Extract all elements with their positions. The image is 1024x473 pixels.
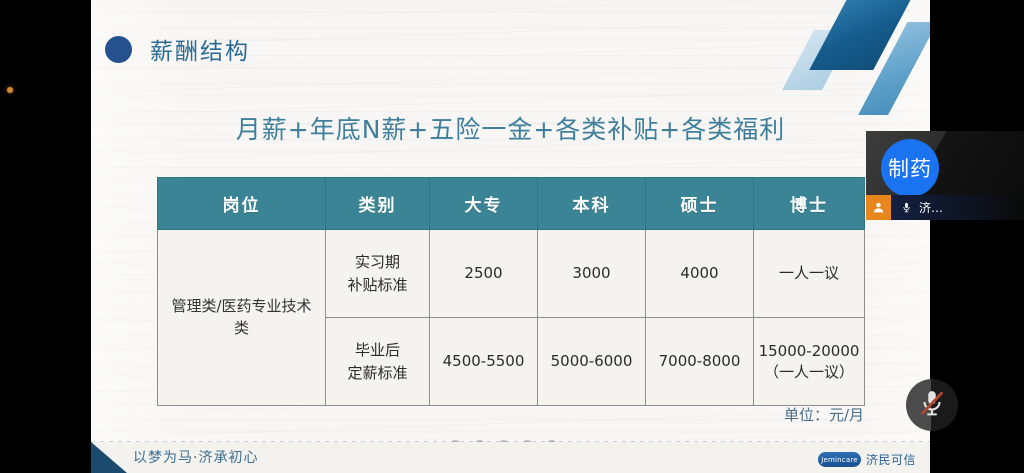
slide-subtitle: 月薪+年底N薪+五险一金+各类补贴+各类福利 [91, 110, 930, 146]
page-title: 薪酬结构 [150, 32, 250, 66]
cell-graduate-college: 4500-5500 [430, 318, 538, 406]
column-header-post: 岗位 [158, 178, 326, 230]
cell-graduate-master: 7000-8000 [646, 318, 754, 406]
shared-slide: 薪酬结构 月薪+年底N薪+五险一金+各类补贴+各类福利 岗位 类别 大专 本科 … [91, 0, 930, 473]
salary-structure-table: 岗位 类别 大专 本科 硕士 博士 管理类/医药专业技术类 实习期 补贴标准 2… [157, 177, 865, 406]
logo-company-name: 济民可信 [866, 451, 916, 468]
cell-post-category: 管理类/医药专业技术类 [158, 230, 326, 406]
cell-category-intern: 实习期 补贴标准 [326, 230, 430, 318]
slide-footer: 以梦为马·济承初心 Jemincare 济民可信 [91, 442, 930, 473]
table-header-row: 岗位 类别 大专 本科 硕士 博士 [158, 178, 865, 230]
corner-decoration [740, 0, 930, 115]
cell-intern-master: 4000 [646, 230, 754, 318]
cell-graduate-doctor: 15000-20000 （一人一议） [754, 318, 865, 406]
participant-name: 济… [919, 199, 943, 216]
column-header-master: 硕士 [646, 178, 754, 230]
cell-intern-college: 2500 [430, 230, 538, 318]
column-header-college: 大专 [430, 178, 538, 230]
cell-graduate-bachelor: 5000-6000 [538, 318, 646, 406]
cell-category-graduate: 毕业后 定薪标准 [326, 318, 430, 406]
cell-intern-bachelor: 3000 [538, 230, 646, 318]
unit-note: 单位：元/月 [784, 404, 864, 425]
company-logo: Jemincare 济民可信 [818, 451, 916, 468]
slide-title-row: 薪酬结构 [105, 32, 250, 66]
person-icon [866, 195, 891, 220]
column-header-category: 类别 [326, 178, 430, 230]
footer-slogan: 以梦为马·济承初心 [133, 447, 258, 467]
table-row: 管理类/医药专业技术类 实习期 补贴标准 2500 3000 4000 一人一议 [158, 230, 865, 318]
footer-triangle-icon [91, 442, 127, 473]
microphone-icon[interactable] [895, 200, 917, 215]
orange-dot-indicator [7, 87, 13, 93]
cell-intern-doctor: 一人一议 [754, 230, 865, 318]
avatar: 制药 [881, 139, 939, 197]
bullet-circle-icon [105, 36, 132, 63]
column-header-bachelor: 本科 [538, 178, 646, 230]
self-view-mute-indicator[interactable] [906, 379, 958, 431]
column-header-doctor: 博士 [754, 178, 865, 230]
microphone-muted-icon [917, 388, 947, 422]
participant-video-tile[interactable]: 制药 济… [866, 131, 1024, 220]
participant-tile-footer: 济… [866, 195, 1024, 220]
logo-oval-icon: Jemincare [818, 452, 861, 467]
meeting-screen-share-view: 薪酬结构 月薪+年底N薪+五险一金+各类补贴+各类福利 岗位 类别 大专 本科 … [0, 0, 1024, 473]
